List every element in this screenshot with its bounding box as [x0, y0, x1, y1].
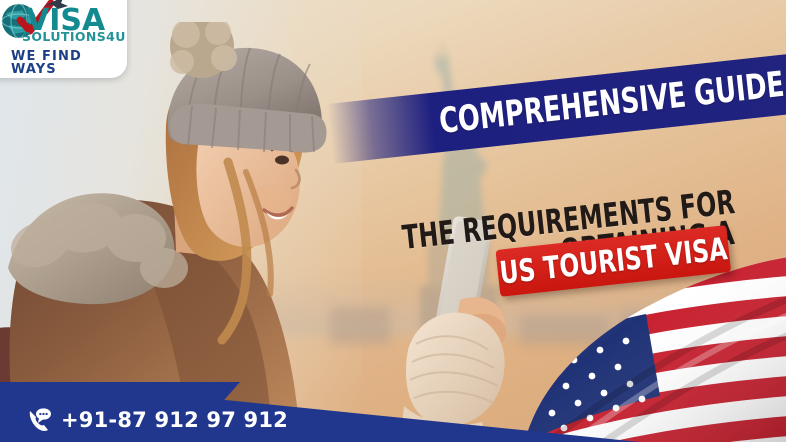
- phone-chat-icon: [26, 407, 52, 433]
- visa-promo-banner: COMPREHENSIVE GUIDE THE REQUIREMENTS FOR…: [0, 0, 786, 442]
- logo-tagline: WE FIND WAYS: [11, 50, 120, 76]
- us-flag: [496, 220, 786, 442]
- logo-mark: VISA SOLUTIONS4U WE FIND WAYS: [0, 0, 120, 72]
- phone-number[interactable]: +91-87 912 97 912: [61, 408, 288, 432]
- woman-photo: [0, 22, 350, 442]
- contact-info[interactable]: +91-87 912 97 912: [26, 407, 288, 433]
- logo-badge[interactable]: VISA SOLUTIONS4U WE FIND WAYS: [0, 0, 127, 78]
- logo-sub: SOLUTIONS4U: [22, 31, 126, 44]
